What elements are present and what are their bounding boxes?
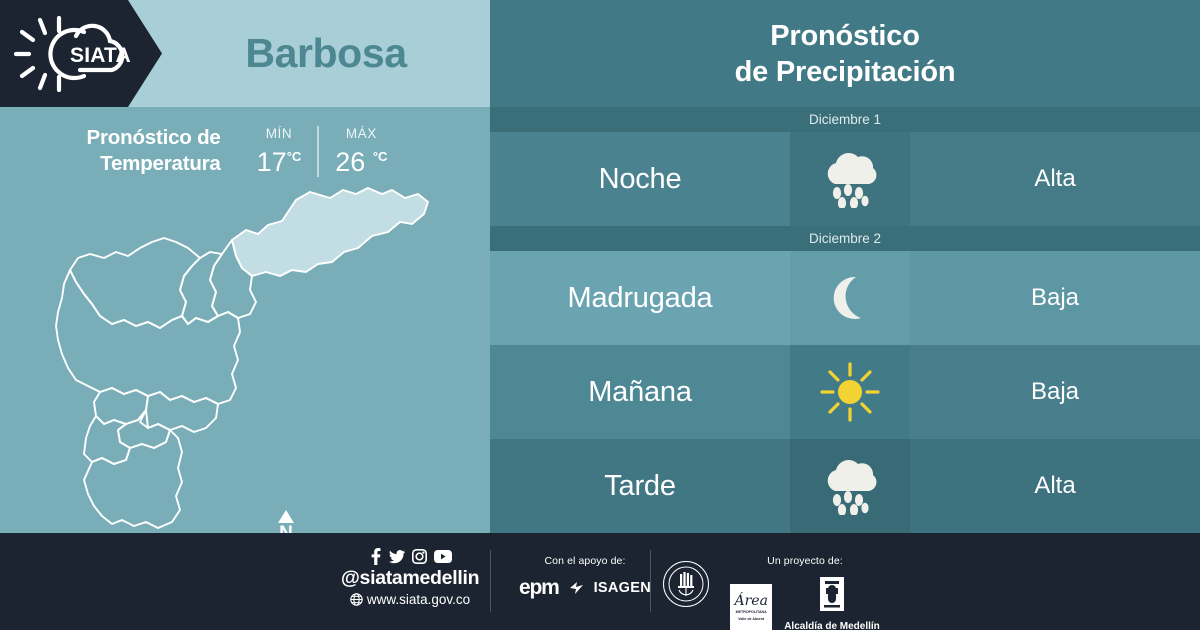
isagen-mark-icon [569, 581, 584, 595]
moon-icon [790, 251, 910, 345]
amva-name: Área [734, 594, 767, 608]
forecast-title: Pronóstico de Precipitación [490, 0, 1200, 107]
date-band-1: Diciembre 1 [490, 107, 1200, 132]
temperature-min: MÍN 17°C [241, 126, 318, 177]
temperature-max-value: 26 °C [335, 142, 387, 177]
support-block: Con el apoyo de: epm ISAGEN [505, 555, 665, 600]
footer-divider [490, 550, 491, 612]
isagen-logo: ISAGEN [594, 580, 651, 596]
date-band-2: Diciembre 2 [490, 226, 1200, 251]
forecast-period: Tarde [490, 439, 790, 533]
social-handle[interactable]: @siatamedellin [330, 567, 490, 590]
forecast-title-line1: Pronóstico [770, 18, 919, 54]
footer-divider-2 [650, 550, 651, 612]
temperature-label-line2: Temperatura [87, 151, 221, 177]
sun-icon [790, 345, 910, 439]
forecast-title-line2: de Precipitación [735, 54, 956, 90]
temperature-label: Pronóstico de Temperatura [87, 125, 221, 177]
amva-sub-line1: METROPOLITANA [736, 610, 767, 615]
temperature-label-line1: Pronóstico de [87, 125, 221, 151]
youtube-icon[interactable] [434, 550, 452, 563]
temperature-max-caption: MÁX [346, 126, 377, 141]
social-icons [330, 548, 490, 565]
project-logos: Área METROPOLITANA Valle de Aburrá [700, 576, 910, 630]
temperature-values: MÍN 17°C MÁX 26 °C [241, 126, 404, 177]
precipitation-probability: Alta [910, 439, 1200, 533]
sun-cloud-icon: SIATA [14, 16, 148, 92]
table-row: Madrugada Baja [490, 251, 1200, 345]
north-arrow-icon [278, 510, 294, 523]
metropolitan-area-map: N [0, 180, 490, 533]
epm-logo: epm [519, 576, 559, 600]
twitter-icon[interactable] [389, 550, 405, 564]
precipitation-probability: Baja [910, 251, 1200, 345]
weather-forecast-card: SIATA Barbosa Pronóstico de Temperatura … [0, 0, 1200, 630]
alcaldia-crest-icon [817, 576, 847, 616]
website-row[interactable]: www.siata.gov.co [330, 590, 490, 609]
forecast-period: Madrugada [490, 251, 790, 345]
table-row: Noche Alta [490, 132, 1200, 226]
forecast-period: Mañana [490, 345, 790, 439]
support-caption: Con el apoyo de: [505, 555, 665, 567]
area-metropolitana-logo: Área METROPOLITANA Valle de Aburrá [730, 584, 772, 630]
rain-cloud-icon [790, 132, 910, 226]
alcaldia-name: Alcaldía de Medellín [784, 621, 880, 630]
city-header: SIATA Barbosa [0, 0, 490, 107]
temperature-max: MÁX 26 °C [317, 126, 403, 177]
forecast-period: Noche [490, 132, 790, 226]
temperature-min-value: 17°C [257, 142, 302, 177]
globe-icon [350, 593, 363, 606]
left-panel: SIATA Barbosa Pronóstico de Temperatura … [0, 0, 490, 533]
amva-sub-line2: Valle de Aburrá [738, 617, 764, 622]
project-caption: Un proyecto de: [700, 555, 910, 567]
precipitation-probability: Baja [910, 345, 1200, 439]
temperature-min-caption: MÍN [266, 126, 293, 141]
alcaldia-logo: Alcaldía de Medellín [784, 576, 880, 630]
map-svg [0, 180, 490, 533]
map-region-barbosa [232, 188, 428, 276]
siata-logo-banner: SIATA [0, 0, 162, 107]
city-name: Barbosa [162, 0, 490, 107]
footer: @siatamedellin www.siata.gov.co Con el a… [0, 533, 1200, 630]
table-row: Tarde Alta [490, 439, 1200, 533]
website-url: www.siata.gov.co [367, 590, 470, 609]
svg-text:SIATA: SIATA [70, 44, 131, 67]
table-row: Mañana Baja [490, 345, 1200, 439]
rain-cloud-icon [790, 439, 910, 533]
project-block: Un proyecto de: Área METROPOLITANA Valle… [700, 555, 910, 630]
facebook-icon[interactable] [369, 548, 382, 565]
instagram-icon[interactable] [412, 549, 427, 564]
temperature-forecast: Pronóstico de Temperatura MÍN 17°C MÁX 2… [0, 118, 490, 184]
social-block: @siatamedellin www.siata.gov.co [330, 548, 490, 609]
support-logos: epm ISAGEN [505, 576, 665, 600]
precipitation-probability: Alta [910, 132, 1200, 226]
precipitation-panel: Pronóstico de Precipitación Diciembre 1 … [490, 0, 1200, 533]
